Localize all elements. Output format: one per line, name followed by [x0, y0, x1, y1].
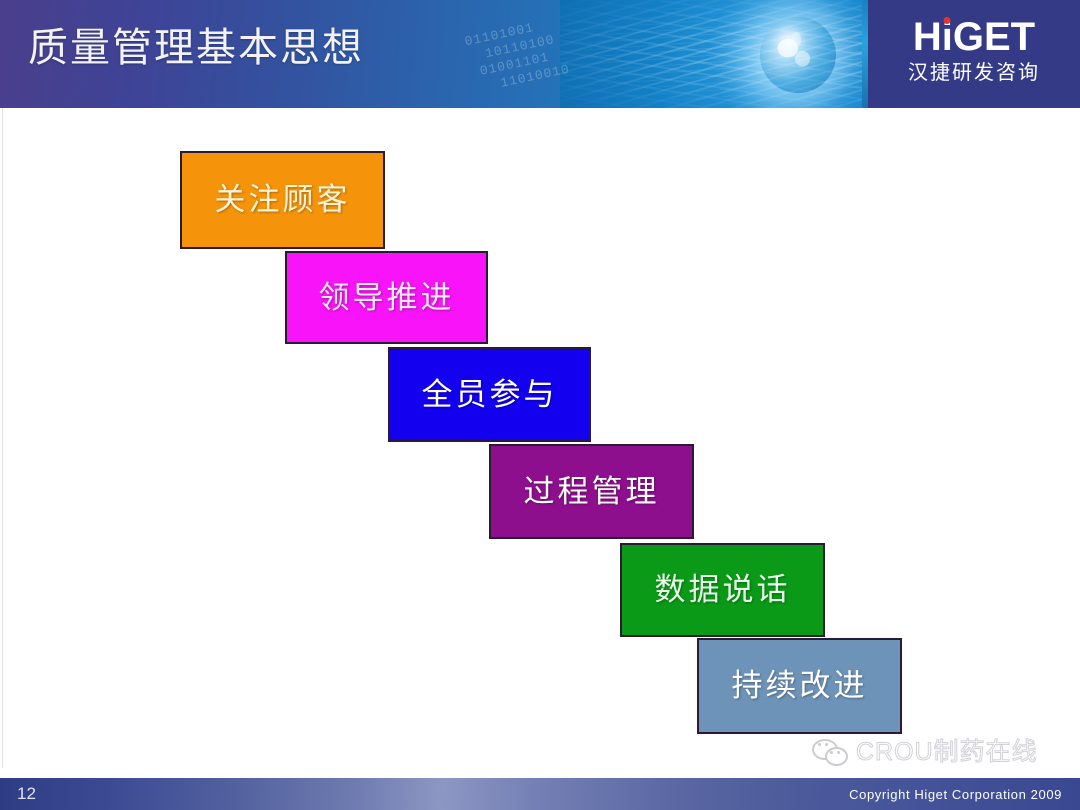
- brand-logo: HiGET 汉捷研发咨询: [868, 16, 1080, 86]
- wechat-dot-4: [837, 751, 840, 754]
- stair-step-1[interactable]: 关注顾客: [180, 151, 385, 249]
- watermark-text: CROU制药在线: [856, 738, 1038, 766]
- stair-step-1-label: 关注顾客: [215, 183, 351, 217]
- brand-logo-panel: HiGET 汉捷研发咨询: [868, 0, 1080, 108]
- brand-wordmark: HiGET: [913, 16, 1035, 58]
- wordmark-part-2: GET: [953, 15, 1035, 59]
- wechat-dot-3: [830, 751, 833, 754]
- stair-step-6[interactable]: 持续改进: [697, 638, 902, 734]
- red-dot-icon: [944, 17, 951, 24]
- stair-step-3-label: 全员参与: [422, 378, 558, 412]
- stair-step-4-label: 过程管理: [524, 475, 660, 509]
- page-number: 12: [17, 784, 36, 804]
- wechat-dot-1: [818, 743, 821, 746]
- wordmark-i: i: [942, 16, 953, 58]
- stair-step-4[interactable]: 过程管理: [489, 444, 694, 539]
- globe-network-icon: [760, 17, 836, 93]
- content-left-rule: [2, 108, 3, 768]
- slide-footer: 12 Copyright Higet Corporation 2009: [0, 778, 1080, 810]
- slide-root: 01101001 10110100 01001101 11010010 HiGE…: [0, 0, 1080, 810]
- wechat-bubble-small: [825, 747, 848, 766]
- stair-step-5-label: 数据说话: [655, 573, 791, 607]
- wechat-dot-2: [825, 743, 828, 746]
- stair-step-6-label: 持续改进: [732, 669, 868, 703]
- copyright-notice: Copyright Higet Corporation 2009: [849, 786, 1062, 804]
- wechat-icon: [812, 739, 848, 765]
- brand-subtitle: 汉捷研发咨询: [868, 60, 1080, 86]
- slide-header: 01101001 10110100 01001101 11010010 HiGE…: [0, 0, 1080, 108]
- stair-step-2-label: 领导推进: [319, 281, 455, 315]
- stair-step-5[interactable]: 数据说话: [620, 543, 825, 637]
- page-title: 质量管理基本思想: [28, 22, 364, 74]
- stair-step-2[interactable]: 领导推进: [285, 251, 488, 344]
- stair-step-3[interactable]: 全员参与: [388, 347, 591, 442]
- wordmark-part-1: H: [913, 15, 942, 59]
- watermark: CROU制药在线: [812, 738, 1038, 766]
